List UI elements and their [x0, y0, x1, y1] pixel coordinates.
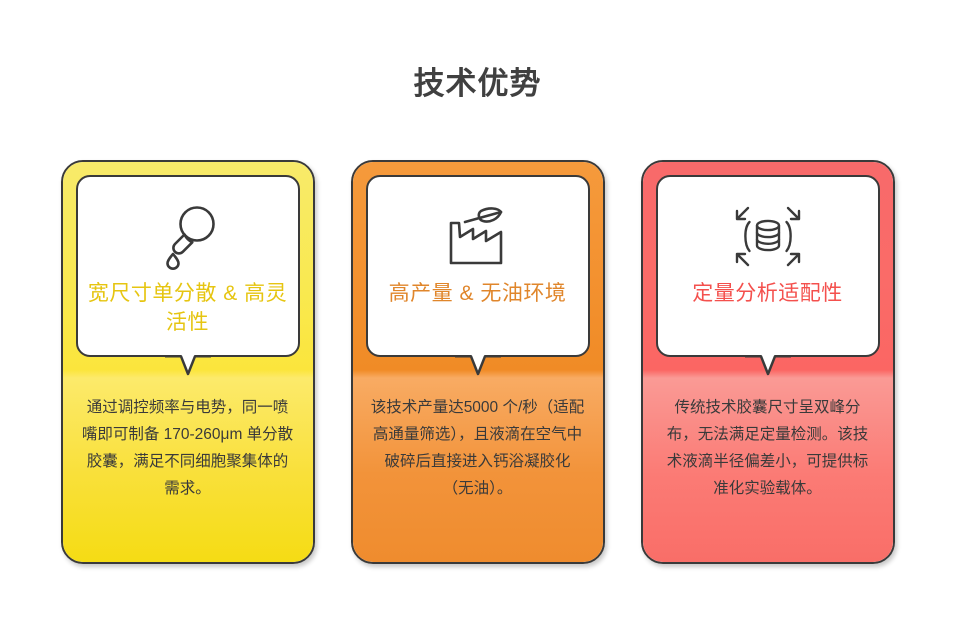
advantage-cards-row: 宽尺寸单分散 & 高灵活性 通过调控频率与电势，同一喷嘴即可制备 170-260…	[0, 160, 955, 564]
card-body-1: 通过调控频率与电势，同一喷嘴即可制备 170-260μm 单分散胶囊，满足不同细…	[81, 394, 295, 502]
advantage-card-3[interactable]: 定量分析适配性 传统技术胶囊尺寸呈双峰分布，无法满足定量检测。该技术液滴半径偏差…	[641, 160, 895, 564]
bubble-tail-1	[165, 355, 211, 381]
bubble-tail-2	[455, 355, 501, 381]
card-bubble-3: 定量分析适配性	[656, 175, 880, 357]
card-bubble-2: 高产量 & 无油环境	[366, 175, 590, 357]
eco-factory-icon	[441, 199, 515, 273]
card-body-3: 传统技术胶囊尺寸呈双峰分布，无法满足定量检测。该技术液滴半径偏差小，可提供标准化…	[661, 394, 875, 502]
advantage-card-1[interactable]: 宽尺寸单分散 & 高灵活性 通过调控频率与电势，同一喷嘴即可制备 170-260…	[61, 160, 315, 564]
card-title-3: 定量分析适配性	[668, 279, 868, 308]
scalable-database-icon	[731, 199, 805, 273]
dropper-pipette-icon	[151, 199, 225, 273]
advantage-card-2[interactable]: 高产量 & 无油环境 该技术产量达5000 个/秒（适配高通量筛选），且液滴在空…	[351, 160, 605, 564]
card-body-2: 该技术产量达5000 个/秒（适配高通量筛选），且液滴在空气中破碎后直接进入钙浴…	[371, 394, 585, 502]
card-title-2: 高产量 & 无油环境	[378, 279, 578, 308]
bubble-tail-3	[745, 355, 791, 381]
card-bubble-1: 宽尺寸单分散 & 高灵活性	[76, 175, 300, 357]
page-title: 技术优势	[0, 58, 955, 103]
card-title-1: 宽尺寸单分散 & 高灵活性	[88, 279, 288, 337]
